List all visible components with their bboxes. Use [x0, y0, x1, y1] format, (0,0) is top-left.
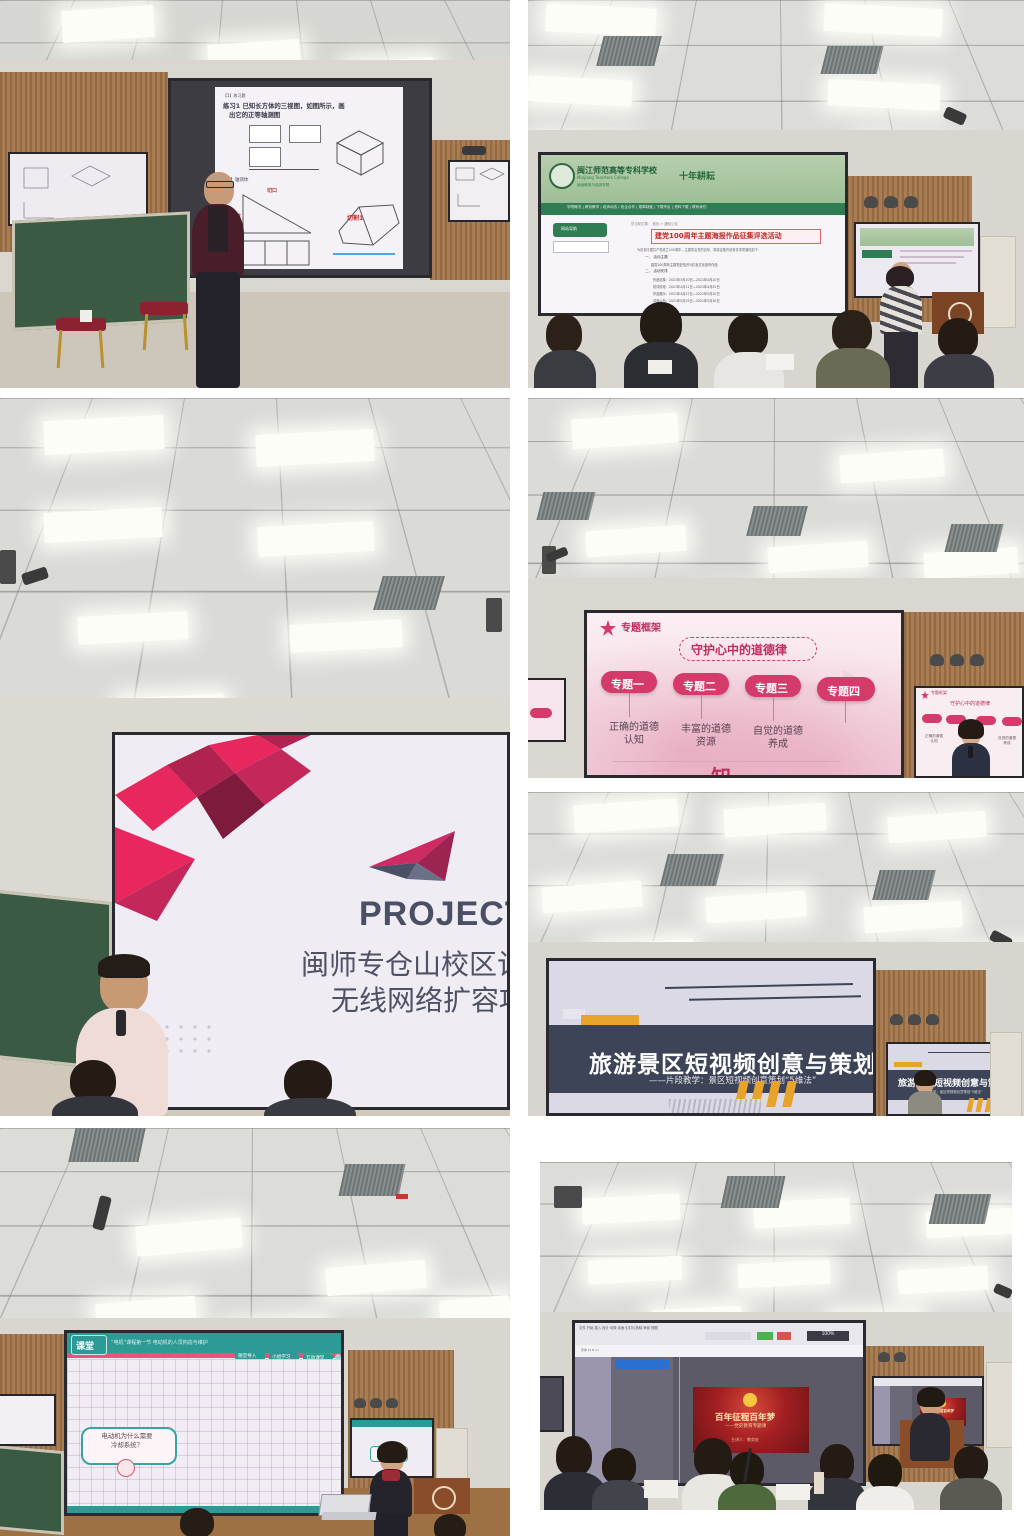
led-display-panel4: 专题框架 守护心中的道德律 专题一 专题二 专题三 专题四 正确的道德认知 丰富… [584, 610, 904, 778]
slide-title: 百年征程百年梦 [715, 1411, 775, 1423]
schedule-item: 作品征集：2021年3月20日—2021年4月10日 [653, 277, 720, 282]
air-vent [68, 1128, 145, 1162]
red-label-cut: 切割1 [347, 213, 363, 222]
interactive-flat-panel-6: 课堂 “电机”课程第一节 电动机的人员构造与维护 随堂导入 小组学习 互动课堂 … [64, 1330, 344, 1516]
person-instructor [190, 172, 246, 388]
nav-next-icon[interactable] [343, 1354, 344, 1360]
pill-topic-3-label: 专题三 [755, 680, 788, 696]
speaker-icon [970, 654, 984, 666]
sub-banner: 继续教育与培训学院 [577, 183, 609, 188]
breadcrumb: 您当前位置： 首页 > 通知公告 [631, 221, 678, 226]
speaker-icon [930, 654, 944, 666]
slide-line-1: 练习1 已知长方体的三视图，如图所示，画 [223, 101, 345, 110]
slide-title-en: PROJECT 7 [359, 895, 510, 934]
led-display-panel2: 闽江师范高等专科学校 Minjiang Teachers College 继续教… [538, 152, 848, 316]
microphone-icon [968, 746, 973, 758]
lectern [414, 1478, 470, 1514]
teacup [648, 360, 672, 374]
schedule-item: 初评阶段：2021年4月11日—2021年4月25日 [653, 284, 720, 289]
ceiling-light [43, 507, 162, 543]
sidebar-button-label: 网站导航 [561, 226, 577, 232]
audience-row [540, 1424, 1012, 1510]
speaker-icon [370, 1398, 382, 1408]
callout-text: 电动机为什么需要冷却系统？ [83, 1432, 171, 1450]
search-input[interactable] [553, 241, 609, 253]
speaker-icon [908, 1014, 921, 1025]
collage-photo-5[interactable]: 旅游景区短视频创意与策划 ——片段教学：景区短视频创意策划“5维法” 旅游景区短… [528, 792, 1024, 1116]
collage-photo-3[interactable]: PROJECT 7 闽师专仓山校区计算机系 无线网络扩容项目 [0, 398, 510, 1116]
delta-arrow-logo-icon [359, 823, 477, 895]
surveillance-camera-icon [462, 146, 486, 155]
isometric-cube-icon [329, 121, 391, 177]
pill-topic-1-label: 专题一 [611, 676, 644, 692]
air-vent [821, 46, 884, 74]
ribbon-button[interactable] [777, 1332, 791, 1340]
indicator-light [396, 1194, 408, 1199]
air-conditioner [990, 1032, 1022, 1116]
person-instructor [370, 1444, 412, 1536]
photo-collage: 【1】练习题 练习1 已知长方体的三视图，如图所示，画 出它的正等轴测图 【2】… [0, 0, 1024, 1536]
menu-bar[interactable]: 文件 开始 插入 设计 切换 动画 幻灯片放映 审阅 视图 [579, 1325, 658, 1330]
air-vent [872, 870, 935, 900]
slide-heading: 【1】练习题 [223, 93, 246, 99]
speaker-icon [554, 1186, 582, 1208]
speaker-icon [878, 1352, 890, 1362]
ceiling-light [257, 521, 374, 557]
air-vent [537, 492, 596, 520]
collage-photo-7[interactable]: 文件 开始 插入 设计 切换 动画 幻灯片放映 审阅 视图 100% 宋体 12… [540, 1162, 1012, 1510]
article-section-1: 一、 活动主题 [645, 255, 668, 260]
ceiling-light [255, 429, 375, 467]
article-section-2: 二、 活动安排 [645, 269, 668, 274]
header-title: “电机”课程第一节 电动机的人员构造与维护 [111, 1339, 208, 1346]
dot-grid-decoration [163, 1023, 233, 1063]
stool [140, 302, 188, 315]
projection-screen-panel3: PROJECT 7 闽师专仓山校区计算机系 无线网络扩容项目 [112, 732, 510, 1110]
site-name-en: Minjiang Teachers College [577, 175, 629, 180]
side-display-left [0, 1394, 56, 1446]
teacup [766, 354, 794, 370]
speaker-icon [864, 196, 878, 208]
article-section-1-body: 建党100周年主题党史知识与红色文化宣传作品 [651, 262, 718, 267]
microphone-icon [116, 1010, 126, 1036]
slide-line-2: 出它的正等轴测图 [229, 110, 280, 119]
speaker-icon [386, 1398, 398, 1408]
collage-photo-6[interactable]: 课堂 “电机”课程第一节 电动机的人员构造与维护 随堂导入 小组学习 互动课堂 … [0, 1128, 510, 1536]
speaker-icon [486, 598, 502, 632]
air-vent [339, 1164, 406, 1196]
speaker-icon [926, 1014, 939, 1025]
side-display-left [528, 678, 566, 742]
ceiling-light [528, 75, 633, 106]
person-audience [422, 1514, 480, 1536]
pill-topic-2-label: 专题二 [683, 678, 716, 694]
red-seal-icon [117, 1459, 135, 1477]
notebook [776, 1484, 810, 1500]
side-display-camera-feed: 专题框架 守护心中的道德律 正确的道德认知 自觉的道德养成 [914, 686, 1024, 778]
article-intro: 为庆祝中国共产党成立100周年，主题突出党的百年，现将征集作品有关事项通知如下： [637, 247, 761, 252]
slide-caption-2: 丰富的道德资源 [669, 723, 743, 749]
ceiling-light [43, 415, 165, 455]
collage-photo-2[interactable]: 闽江师范高等专科学校 Minjiang Teachers College 继续教… [528, 0, 1024, 388]
zoom-level[interactable]: 100% [807, 1331, 849, 1341]
slide-center-title: 守护心中的道德律 [691, 641, 787, 658]
glasses-icon [206, 181, 234, 188]
slide-badge: 专题框架 [621, 619, 661, 634]
ceiling-light [737, 1260, 830, 1289]
ceiling-light [897, 1266, 988, 1295]
logo-chip-label: 课堂 [76, 1339, 94, 1352]
teacup [814, 1472, 824, 1494]
college-logo-icon [549, 163, 575, 189]
collage-photo-4[interactable]: 专题框架 守护心中的道德律 专题一 专题二 专题三 专题四 正确的道德认知 丰富… [528, 398, 1024, 778]
speaker-icon [354, 1398, 366, 1408]
air-vent [721, 1176, 786, 1208]
speaker-icon [890, 1014, 903, 1025]
speaker-icon [904, 196, 918, 208]
collage-photo-1[interactable]: 【1】练习题 练习1 已知长方体的三视图，如图所示，画 出它的正等轴测图 【2】… [0, 0, 510, 388]
speaker-icon [0, 550, 16, 584]
side-display [448, 160, 510, 222]
ceiling-light [289, 619, 402, 653]
person-audience [52, 1060, 138, 1116]
ceiling-light [587, 1256, 682, 1285]
audience-row [528, 296, 1024, 388]
led-display-panel5: 旅游景区短视频创意与策划 ——片段教学：景区短视频创意策划“5维法” [546, 958, 876, 1116]
banner-slogan: 十年耕耘 [679, 169, 715, 182]
air-vent [596, 36, 661, 66]
ribbon-button[interactable] [757, 1332, 773, 1340]
party-emblem-icon [743, 1393, 757, 1407]
air-vent [746, 506, 807, 536]
slide-caption-1: 正确的道德认知 [597, 721, 671, 747]
speaker-icon [884, 196, 898, 208]
section-drawing-icon [233, 185, 327, 273]
web-nav[interactable]: 学院概况 | 教务教学 | 培训动态 | 校企合作 | 规章制度 | 下载专区 … [567, 205, 706, 210]
slide-thumb-selected[interactable] [615, 1359, 669, 1369]
air-vent [929, 1194, 991, 1224]
slide-caption-3: 自觉的道德养成 [741, 725, 815, 751]
cut-solid-icon [333, 191, 405, 255]
slide-bottom-word: 知 [711, 761, 731, 778]
red-dim-top: 切口 [267, 187, 277, 194]
chalkboard [0, 1445, 64, 1535]
slide-title-cn-1: 闽师专仓山校区计算机系 [301, 943, 510, 983]
ribbon-group[interactable] [705, 1332, 751, 1340]
air-vent [660, 854, 724, 886]
ceiling-light [545, 3, 656, 37]
article-title: 建党100周年主题海报作品征集评选活动 [655, 231, 782, 241]
chalk-eraser [80, 310, 92, 322]
ceiling-light [77, 611, 188, 645]
air-vent [373, 576, 445, 610]
speaker-icon [894, 1352, 906, 1362]
air-vent [945, 524, 1004, 552]
slide-title-cn-2: 无线网络扩容项目 [331, 979, 510, 1019]
speaker-icon [950, 654, 964, 666]
notebook [644, 1480, 678, 1498]
pill-topic-4-label: 专题四 [827, 683, 860, 699]
ceiling-light [61, 5, 155, 43]
person-audience [264, 1060, 356, 1116]
person-audience [166, 1508, 228, 1536]
ceiling-light [581, 1193, 680, 1224]
